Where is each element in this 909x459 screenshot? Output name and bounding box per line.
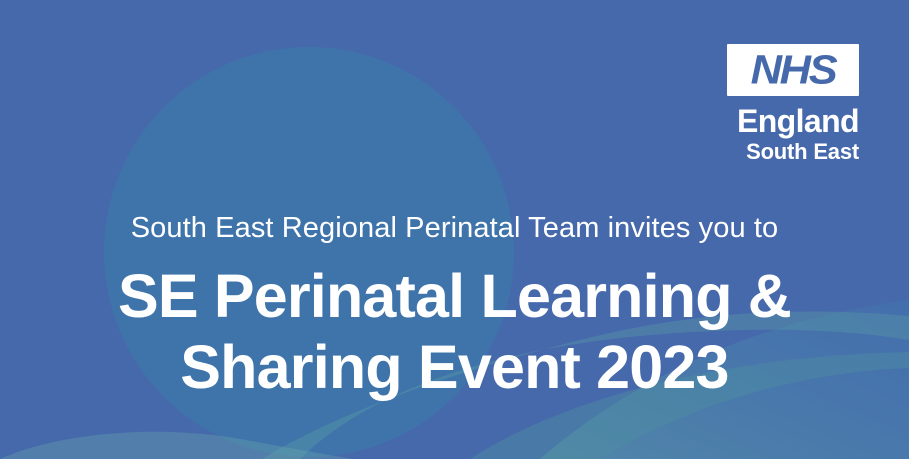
event-title: SE Perinatal Learning & Sharing Event 20… [28, 261, 881, 403]
invitation-kicker: South East Regional Perinatal Team invit… [28, 212, 881, 245]
event-poster: NHS England South East South East Region… [0, 0, 909, 459]
event-title-line-1: SE Perinatal Learning & [28, 261, 881, 332]
nhs-logo: NHS England South East [727, 44, 859, 163]
event-title-line-2: Sharing Event 2023 [28, 332, 881, 403]
nhs-logo-mark-text: NHS [727, 50, 859, 91]
nhs-logo-mark: NHS [727, 44, 859, 96]
nhs-logo-region: South East [727, 141, 859, 163]
poster-text-block: South East Regional Perinatal Team invit… [0, 212, 909, 403]
nhs-logo-england: England [727, 105, 859, 137]
decorative-wave-left [0, 432, 352, 459]
